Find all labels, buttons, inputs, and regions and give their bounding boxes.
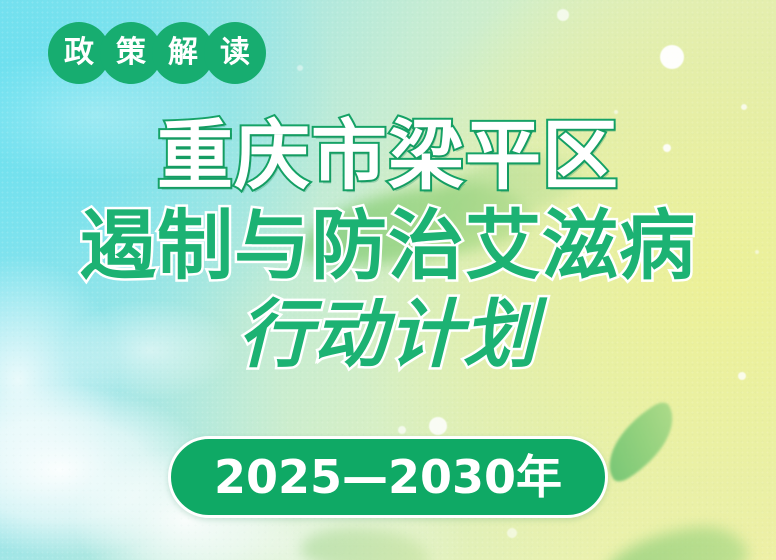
poster-headline: 重庆市梁平区 遏制与防治艾滋病 行动计划 [0, 118, 776, 372]
leaf-decoration-bottom-right-blur [594, 519, 752, 560]
headline-line-3: 行动计划 [0, 298, 776, 372]
bubble-7 [398, 426, 406, 434]
bubble-8 [507, 528, 517, 538]
bubble-3 [741, 104, 747, 110]
year-range-label: 2025—2030年 [214, 454, 562, 500]
headline-line-1: 重庆市梁平区 [0, 118, 776, 194]
year-range-badge: 2025—2030年 [168, 436, 608, 518]
bubble-9 [738, 372, 746, 380]
policy-badge-char-4: 读 [204, 22, 266, 84]
leaf-decoration-bottom-left [297, 519, 432, 560]
bubble-11 [297, 65, 303, 71]
policy-poster: 政 策 解 读 重庆市梁平区 遏制与防治艾滋病 行动计划 2025—2030年 [0, 0, 776, 560]
bubble-4 [557, 9, 569, 21]
headline-line-2: 遏制与防治艾滋病 [0, 208, 776, 284]
bubble-6 [429, 417, 447, 435]
bubble-1 [660, 45, 684, 69]
policy-interpretation-badge: 政 策 解 读 [48, 22, 266, 84]
